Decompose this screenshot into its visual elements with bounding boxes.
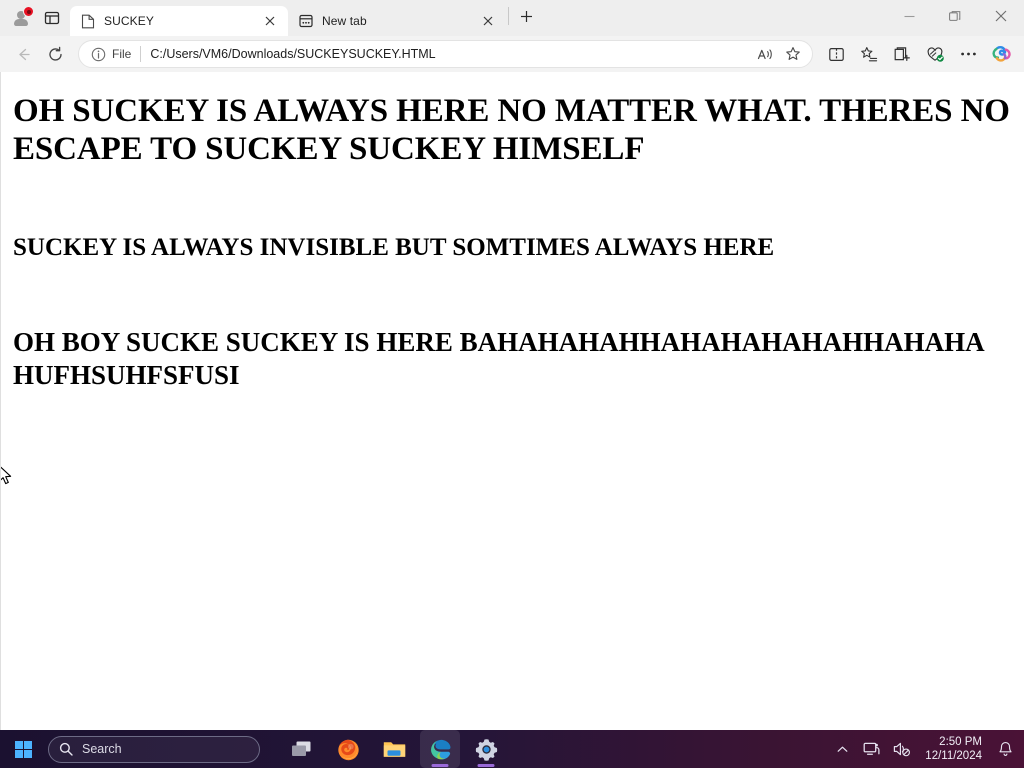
- screen: SUCKEY: [0, 0, 1024, 768]
- toolbar-actions: [821, 40, 1016, 68]
- collections-icon: [893, 46, 911, 63]
- profile-button[interactable]: [6, 4, 36, 32]
- minimize-icon: [904, 11, 915, 22]
- star-icon: [785, 46, 801, 62]
- browser-window: SUCKEY: [0, 0, 1024, 730]
- file-page-icon: [80, 13, 96, 29]
- clock-date: 12/11/2024: [925, 749, 982, 763]
- taskbar-item-settings[interactable]: [466, 730, 506, 768]
- tab-suckey[interactable]: SUCKEY: [70, 6, 288, 36]
- tab-title: SUCKEY: [104, 14, 252, 28]
- address-bar[interactable]: File C:/Users/VM6/Downloads/SUCKEYSUCKEY…: [78, 40, 813, 68]
- show-hidden-icons-button[interactable]: [831, 734, 853, 764]
- page-heading-3: OH BOY SUCKE SUCKEY IS HERE BAHAHAHAHHAH…: [13, 326, 1012, 392]
- tab-close-button[interactable]: [478, 11, 498, 31]
- back-arrow-icon: [15, 46, 32, 63]
- scheme-label: File: [112, 47, 131, 61]
- task-view-icon: [290, 739, 314, 759]
- taskbar-item-file-explorer[interactable]: [374, 730, 414, 768]
- ellipsis-icon: [960, 51, 977, 57]
- file-explorer-icon: [382, 738, 407, 760]
- page-content: OH SUCKEY IS ALWAYS HERE NO MATTER WHAT.…: [0, 72, 1024, 730]
- refresh-button[interactable]: [40, 40, 70, 68]
- window-controls: [886, 0, 1024, 36]
- settings-and-more-button[interactable]: [953, 40, 983, 68]
- gear-icon: [474, 737, 499, 762]
- new-tab-button[interactable]: [511, 3, 541, 31]
- network-display-icon: [863, 741, 881, 757]
- omnibox-actions: [752, 42, 806, 66]
- refresh-icon: [47, 46, 64, 63]
- tab-new-tab[interactable]: New tab: [288, 6, 506, 36]
- read-aloud-button[interactable]: [752, 42, 778, 66]
- system-tray: 2:50 PM 12/11/2024: [831, 734, 1024, 764]
- search-placeholder: Search: [82, 742, 122, 756]
- taskbar-apps: [282, 730, 506, 768]
- edge-icon: [428, 737, 453, 762]
- browser-toolbar: File C:/Users/VM6/Downloads/SUCKEYSUCKEY…: [0, 36, 1024, 72]
- split-screen-icon: [828, 46, 845, 63]
- tab-strip-left: [0, 0, 66, 36]
- split-screen-button[interactable]: [821, 40, 851, 68]
- omnibox-divider: [140, 46, 141, 62]
- taskbar-item-task-view[interactable]: [282, 730, 322, 768]
- tab-title: New tab: [322, 14, 470, 28]
- tab-divider: [508, 7, 509, 25]
- tab-close-button[interactable]: [260, 11, 280, 31]
- speaker-muted-icon: [893, 741, 911, 757]
- info-icon[interactable]: [89, 45, 107, 63]
- notifications-button[interactable]: [994, 734, 1016, 764]
- copilot-button[interactable]: [986, 40, 1016, 68]
- page-heading-1: OH SUCKEY IS ALWAYS HERE NO MATTER WHAT.…: [13, 93, 1012, 169]
- clock[interactable]: 2:50 PM 12/11/2024: [921, 735, 986, 764]
- taskbar: Search: [0, 730, 1024, 768]
- tab-actions-button[interactable]: [38, 4, 66, 32]
- firefox-icon: [336, 737, 361, 762]
- start-button[interactable]: [6, 732, 40, 766]
- tab-actions-icon: [44, 10, 60, 26]
- tab-strip: SUCKEY: [0, 0, 1024, 36]
- back-button[interactable]: [8, 40, 38, 68]
- windows-logo-icon: [15, 741, 32, 758]
- favorites-button[interactable]: [854, 40, 884, 68]
- close-button[interactable]: [978, 0, 1024, 32]
- running-indicator: [432, 764, 449, 767]
- minimize-button[interactable]: [886, 0, 932, 32]
- search-icon: [59, 742, 73, 756]
- browser-essentials-button[interactable]: [920, 40, 950, 68]
- newtab-icon: [298, 13, 314, 29]
- profile-notification-badge: [23, 6, 34, 17]
- bell-icon: [998, 741, 1013, 757]
- mouse-cursor: [0, 464, 13, 488]
- collections-button[interactable]: [887, 40, 917, 68]
- clock-time: 2:50 PM: [939, 735, 982, 749]
- restore-icon: [949, 10, 961, 22]
- page-heading-2: SUCKEY IS ALWAYS INVISIBLE BUT SOMTIMES …: [13, 233, 1012, 263]
- taskbar-item-firefox[interactable]: [328, 730, 368, 768]
- browser-essentials-icon: [926, 46, 945, 63]
- favorites-icon: [860, 46, 878, 63]
- close-icon: [995, 10, 1007, 22]
- copilot-icon: [991, 44, 1012, 64]
- plus-icon: [520, 10, 533, 23]
- volume-muted-icon[interactable]: [891, 734, 913, 764]
- taskbar-item-edge[interactable]: [420, 730, 460, 768]
- url-text[interactable]: C:/Users/VM6/Downloads/SUCKEYSUCKEY.HTML: [150, 47, 748, 61]
- read-aloud-icon: [757, 47, 774, 62]
- taskbar-left: Search: [0, 732, 260, 766]
- maximize-button[interactable]: [932, 0, 978, 32]
- chevron-up-icon: [836, 743, 849, 756]
- network-icon[interactable]: [861, 734, 883, 764]
- running-indicator: [478, 764, 495, 767]
- tab-list: SUCKEY: [70, 0, 541, 36]
- taskbar-search[interactable]: Search: [48, 736, 260, 763]
- add-favorite-button[interactable]: [780, 42, 806, 66]
